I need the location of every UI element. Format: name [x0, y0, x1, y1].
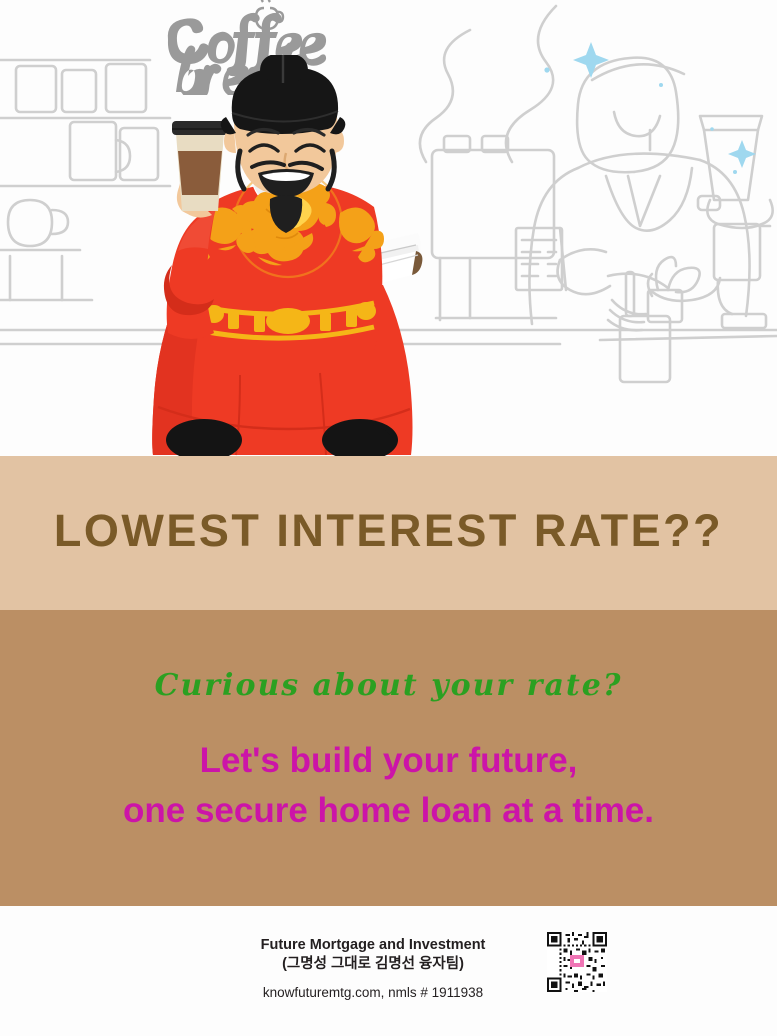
qr-code[interactable] [547, 932, 607, 992]
footer-info: Future Mortgage and Investment (그명성 그대로 … [148, 936, 598, 1002]
korean-king-illustration [120, 55, 460, 470]
footer-website-nmls: knowfuturemtg.com, nmls # 1911938 [148, 984, 598, 1002]
tagline-line-1: Let's build your future, [0, 736, 777, 786]
royal-hat [221, 55, 346, 134]
tagline-body: Let's build your future, one secure home… [0, 736, 777, 836]
poster-canvas: LOWEST INTEREST RATE?? Curious about you… [0, 0, 777, 1036]
tagline-question: Curious about your rate? [0, 668, 777, 703]
footer-company-name-kr: (그명성 그대로 김명선 융자팀) [148, 955, 598, 974]
headline: LOWEST INTEREST RATE?? [0, 505, 777, 557]
footer-company-name: Future Mortgage and Investment [148, 936, 598, 955]
tagline-line-2: one secure home loan at a time. [0, 786, 777, 836]
